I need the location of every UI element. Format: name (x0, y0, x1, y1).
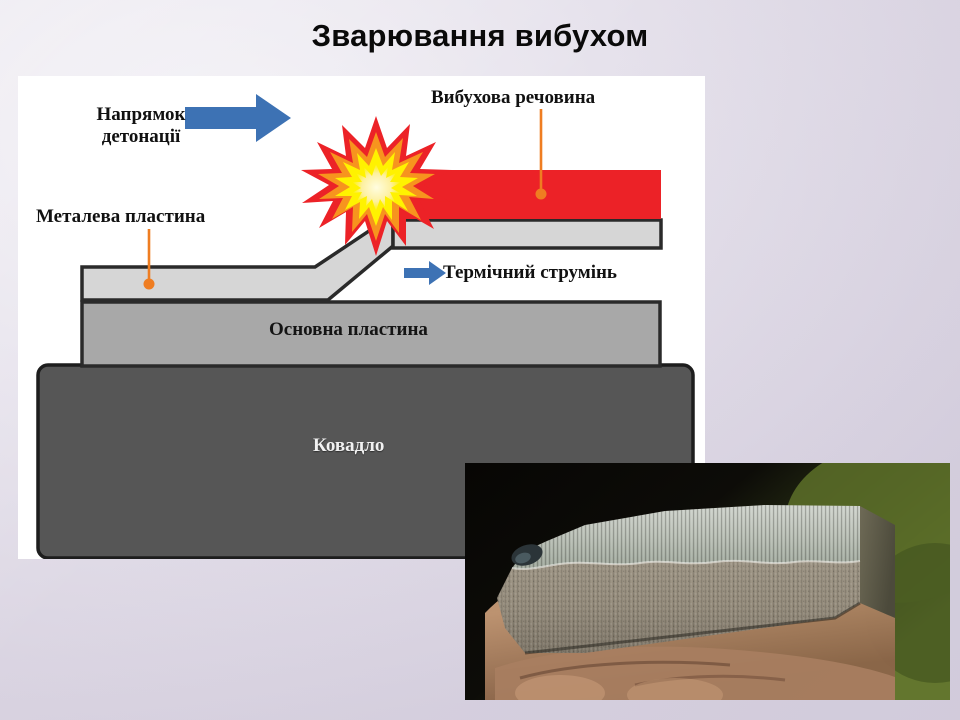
explosion-welded-sample-photo (465, 463, 950, 700)
leader-line-metal-plate-icon (144, 229, 155, 290)
arrow-right-small-icon (404, 261, 446, 285)
label-thermal-jet: Термічний струмінь (443, 262, 617, 284)
label-anvil: Ковадло (313, 435, 384, 457)
label-detonation-line2: детонації (66, 126, 216, 148)
slide-root: Зварювання вибухом (0, 0, 960, 720)
page-title: Зварювання вибухом (0, 18, 960, 54)
label-base-plate: Основна пластина (269, 319, 428, 341)
sample-side-face (860, 506, 895, 618)
label-detonation-line1: Напрямок (66, 104, 216, 126)
label-metal-plate: Металева пластина (36, 206, 205, 228)
label-explosive-substance: Вибухова речовина (431, 87, 595, 109)
label-detonation-direction: Напрямок детонації (66, 104, 216, 148)
